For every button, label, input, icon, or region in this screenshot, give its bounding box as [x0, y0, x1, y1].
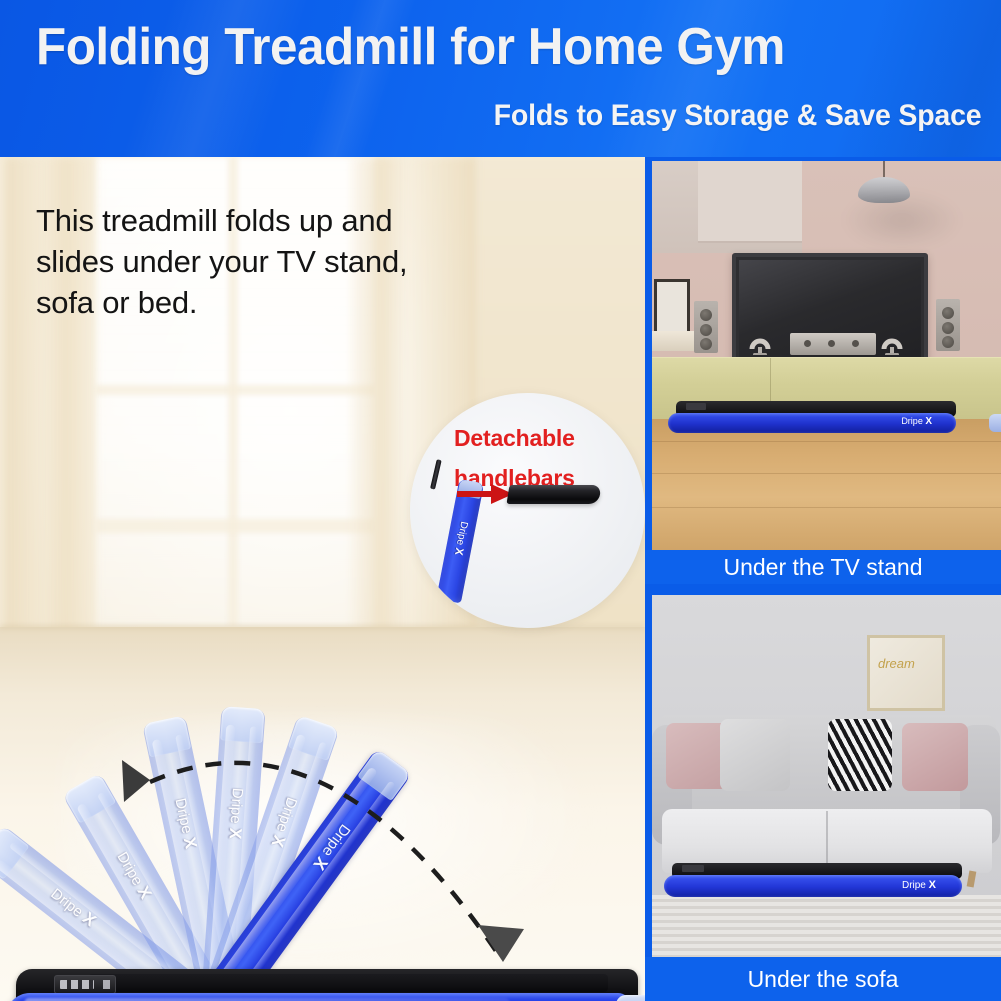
stacked-books	[652, 331, 694, 351]
sofa-room-background: dream Dripe X	[652, 595, 1001, 957]
header-streak	[821, 0, 1001, 157]
wood-floor	[652, 419, 1001, 550]
throw-pillow-chevron	[828, 719, 892, 791]
speaker-cone	[942, 336, 954, 348]
throw-pillow-grey-left	[720, 719, 790, 791]
floor-plank-line	[652, 441, 1001, 442]
display-digits	[60, 980, 94, 989]
callout-red-arrow-icon	[457, 481, 513, 507]
throw-pillow-pink-left	[666, 723, 728, 789]
folded-treadmill-end-cap	[989, 414, 1001, 432]
av-receiver	[790, 333, 876, 355]
receiver-knob	[804, 340, 811, 347]
header-banner: Folding Treadmill for Home Gym Folds to …	[0, 0, 1001, 157]
caption-under-sofa: Under the sofa	[645, 957, 1001, 1001]
caption-under-tv-stand: Under the TV stand	[645, 550, 1001, 584]
cushion-seam	[826, 811, 828, 871]
speaker-cone	[700, 338, 712, 350]
wall-art: dream	[867, 635, 945, 711]
floor-plank-line	[652, 507, 1001, 508]
base-blue-shell: Dripe X	[6, 993, 630, 1001]
wall-art-word: dream	[878, 656, 915, 671]
console-display	[54, 975, 116, 994]
scene-under-tv-stand: Dripe X	[652, 161, 1001, 550]
detachable-handlebars-callout: Detachable handlebars Dripe X	[410, 393, 645, 628]
light-wood-floor	[652, 895, 1001, 957]
left-feature-panel: This treadmill folds up and slides under…	[0, 157, 645, 1001]
infographic-page: Folding Treadmill for Home Gym Folds to …	[0, 0, 1001, 1001]
handlebar-socket-stub	[430, 459, 442, 489]
folded-treadmill-shell: Dripe X	[664, 875, 962, 897]
page-subtitle: Folds to Easy Storage & Save Space	[493, 99, 981, 133]
folded-treadmill-brand: Dripe X	[901, 416, 932, 427]
folded-treadmill-display	[682, 865, 704, 872]
folded-treadmill-shell: Dripe X	[668, 413, 956, 433]
scene-under-sofa: dream Dripe X	[652, 595, 1001, 957]
headphone-stand-icon	[880, 329, 904, 355]
speaker-cone	[700, 309, 712, 321]
folded-treadmill-brand: Dripe X	[902, 879, 936, 891]
floor-plank-line	[652, 473, 1001, 474]
post-brand-label: Dripe X	[224, 787, 248, 840]
tv-room-background: Dripe X	[652, 161, 1001, 550]
receiver-knob	[828, 340, 835, 347]
callout-post-brand: Dripe X	[452, 520, 470, 556]
base-end-cap	[616, 995, 645, 1001]
tower-speaker-right	[936, 299, 960, 351]
display-indicator	[103, 980, 110, 989]
receiver-knob	[852, 340, 859, 347]
throw-pillow-pink-right	[902, 723, 968, 791]
headphone-stand-icon	[748, 329, 772, 355]
speaker-cone	[700, 324, 712, 336]
sofa-leg	[967, 871, 977, 888]
pendant-lamp-shadow	[842, 191, 962, 249]
wall-cabinet-panel	[698, 161, 802, 243]
page-title: Folding Treadmill for Home Gym	[36, 17, 785, 77]
speaker-cone	[942, 307, 954, 319]
treadmill-base: Dripe X	[6, 969, 645, 1001]
right-scene-column: Dripe X Under the TV stand dream	[645, 157, 1001, 1001]
detached-handlebar	[506, 485, 601, 504]
tower-speaker-left	[694, 301, 718, 353]
running-belt	[88, 974, 608, 992]
callout-line-1: Detachable	[454, 425, 575, 452]
speaker-cone	[942, 322, 954, 334]
folded-treadmill-display	[686, 403, 706, 410]
